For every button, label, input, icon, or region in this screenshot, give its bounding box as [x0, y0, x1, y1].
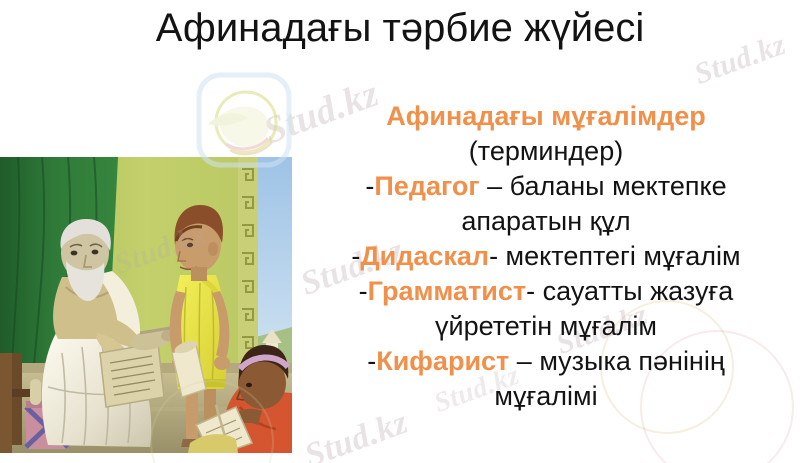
term-definition: үйрететін мұғалім: [435, 311, 657, 341]
line-dash: -: [359, 276, 368, 306]
term-line-grammatist: -Грамматист- сауатты жазуға: [292, 274, 800, 309]
term-line-pedagog: -Педагог – баланы мектепке: [292, 169, 800, 204]
stud-kz-logo-icon: [196, 72, 292, 168]
line-dash: -: [367, 346, 376, 376]
term-label-pedagog: Педагог: [374, 171, 479, 201]
term-definition: – музыка пәнінің: [509, 346, 724, 376]
slide-canvas: Stud.kz Stud.kz Stud.kz Stud.kz Stud.kz …: [0, 0, 800, 463]
term-line-pedagog-cont: апаратын құл: [292, 204, 800, 239]
term-definition: апаратын құл: [461, 206, 630, 236]
term-definition: – баланы мектепке: [480, 171, 727, 201]
terms-heading: Афинадағы мұғалімдер: [292, 98, 800, 134]
term-line-kifarist-cont: мұғалімі: [292, 379, 800, 414]
terms-subheading: (терминдер): [292, 134, 800, 169]
term-line-grammatist-cont: үйрететін мұғалім: [292, 309, 800, 344]
term-definition: - мектептегі мұғалім: [489, 241, 741, 271]
page-title: Афинадағы тәрбие жүйесі: [0, 2, 800, 54]
term-label-kifarist: Кифарист: [376, 346, 509, 376]
term-label-didaskal: Дидаскал: [360, 241, 489, 271]
illustration-image: [0, 157, 292, 453]
terms-text-block: Афинадағы мұғалімдер (терминдер) -Педаго…: [292, 98, 800, 414]
term-definition: - сауатты жазуға: [526, 276, 733, 306]
term-line-kifarist: -Кифарист – музыка пәнінің: [292, 344, 800, 379]
term-definition: мұғалімі: [494, 381, 597, 411]
term-line-didaskal: -Дидаскал- мектептегі мұғалім: [292, 239, 800, 274]
greek-school-scene-illustration: [0, 157, 292, 453]
term-label-grammatist: Грамматист: [368, 276, 526, 306]
